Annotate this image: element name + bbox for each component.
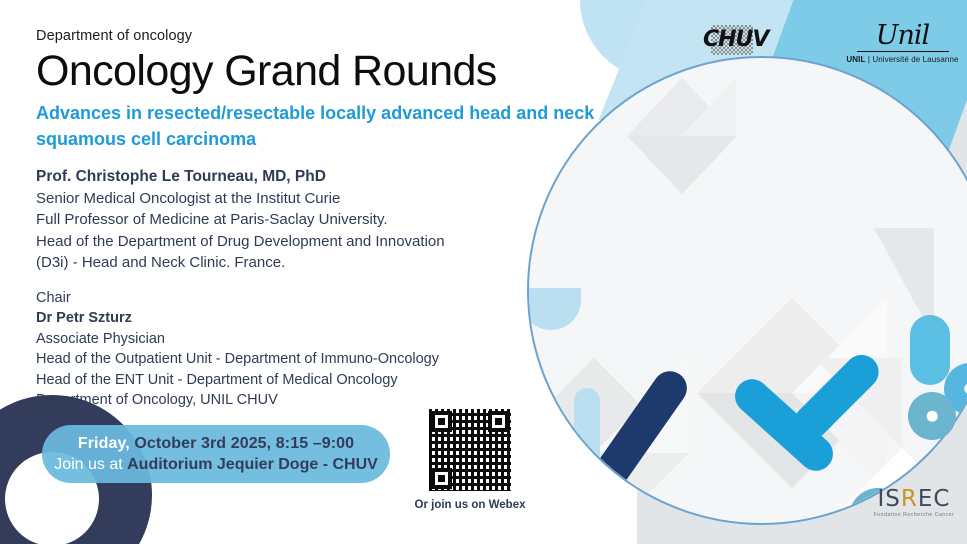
speaker-line: (D3i) - Head and Neck Clinic. France. <box>36 252 636 274</box>
unil-script-text: Unil <box>845 22 960 50</box>
chair-name: Dr Petr Szturz <box>36 308 636 329</box>
event-date-line: Friday, October 3rd 2025, 8:15 –9:00 <box>78 433 354 454</box>
webex-qr-block[interactable]: Or join us on Webex <box>406 409 534 511</box>
unil-underline <box>857 51 949 52</box>
isrec-logo-subtitle: Fondation Recherche Cancer <box>868 512 960 518</box>
chair-block: Chair Dr Petr Szturz Associate Physician… <box>36 288 636 411</box>
page-title: Oncology Grand Rounds <box>36 46 636 96</box>
speaker-line: Head of the Department of Drug Developme… <box>36 231 636 253</box>
event-day: Friday, <box>78 435 135 452</box>
speaker-line: Senior Medical Oncologist at the Institu… <box>36 188 636 210</box>
chair-line: Associate Physician <box>36 329 636 350</box>
chair-line: Head of the Outpatient Unit - Department… <box>36 349 636 370</box>
isrec-part-is: IS <box>878 486 901 512</box>
main-content: Department of oncology Oncology Grand Ro… <box>36 28 636 411</box>
chair-line: Head of the ENT Unit - Department of Med… <box>36 370 636 391</box>
unil-sub-bold: UNIL <box>846 55 865 64</box>
qr-finder-top-left <box>431 411 452 432</box>
chuv-logo-text: CHUV <box>703 29 765 51</box>
webex-caption: Or join us on Webex <box>406 499 534 511</box>
unil-sub-rest: | Université de Lausanne <box>866 55 959 64</box>
mid-pill-right <box>910 315 950 385</box>
isrec-logo-text: ISREC <box>868 487 960 511</box>
isrec-logo: ISREC Fondation Recherche Cancer <box>868 487 960 518</box>
qr-code-image[interactable] <box>429 409 511 491</box>
unil-logo-subtitle: UNIL | Université de Lausanne <box>845 55 960 64</box>
chuv-logo: CHUV <box>703 25 765 55</box>
unil-logo: Unil UNIL | Université de Lausanne <box>845 22 960 64</box>
speaker-block: Prof. Christophe Le Tourneau, MD, PhD Se… <box>36 166 636 274</box>
event-details-banner: Friday, October 3rd 2025, 8:15 –9:00 Joi… <box>42 425 390 483</box>
talk-subtitle: Advances in resected/resectable locally … <box>36 100 596 152</box>
event-venue-name: Auditorium Jequier Doge - CHUV <box>127 456 378 473</box>
event-venue-line: Join us at Auditorium Jequier Doge - CHU… <box>54 454 378 475</box>
chair-line: Department of Oncology, UNIL CHUV <box>36 390 636 411</box>
facet-shape <box>627 136 737 194</box>
chair-label: Chair <box>36 288 636 309</box>
qr-finder-top-right <box>488 411 509 432</box>
facet-shape <box>681 78 736 136</box>
qr-finder-bottom-left <box>431 468 452 489</box>
isrec-part-ec: EC <box>918 486 951 512</box>
isrec-part-r: R <box>901 486 918 512</box>
bottom-right-donut <box>908 392 956 440</box>
event-venue-prefix: Join us at <box>54 456 127 473</box>
speaker-line: Full Professor of Medicine at Paris-Sacl… <box>36 209 636 231</box>
event-date-time: October 3rd 2025, 8:15 –9:00 <box>134 435 354 452</box>
department-label: Department of oncology <box>36 28 636 44</box>
poster-canvas: CHUV Unil UNIL | Université de Lausanne … <box>0 0 967 544</box>
speaker-name: Prof. Christophe Le Tourneau, MD, PhD <box>36 166 636 188</box>
